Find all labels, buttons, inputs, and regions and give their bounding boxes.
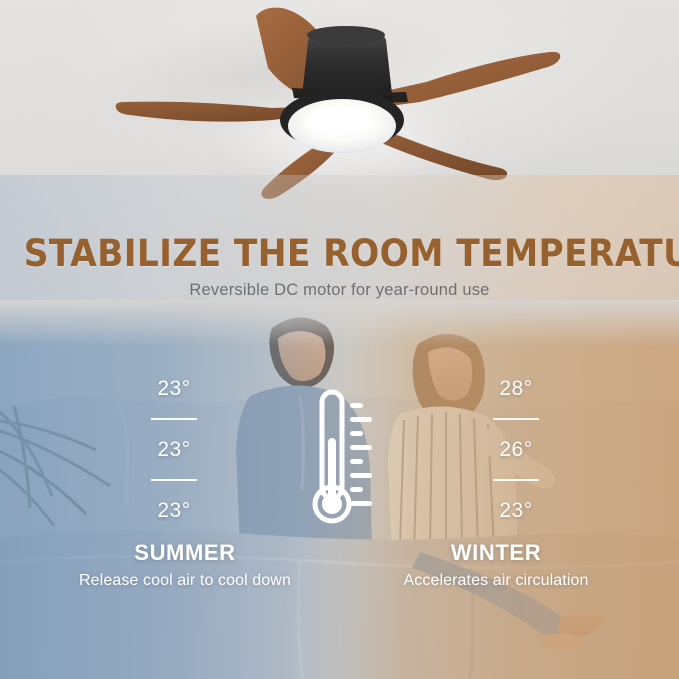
temperature-reading: 23° xyxy=(452,500,580,521)
season-description: Accelerates air circulation xyxy=(336,572,656,590)
temperature-divider xyxy=(493,479,539,481)
temperature-reading: 23° xyxy=(110,439,238,460)
temperature-reading: 26° xyxy=(452,439,580,460)
product-feature-poster: STABILIZE THE ROOM TEMPERATURE Reversibl… xyxy=(0,0,679,679)
ceiling-fan-product-image xyxy=(96,2,586,200)
thermometer-icon xyxy=(306,380,380,532)
temperature-reading: 23° xyxy=(110,500,238,521)
season-title: SUMMER xyxy=(25,540,345,566)
page-subtitle: Reversible DC motor for year-round use xyxy=(0,281,679,300)
season-block-winter: WINTER Accelerates air circulation xyxy=(336,540,656,590)
season-block-summer: SUMMER Release cool air to cool down xyxy=(25,540,345,590)
temperature-column-winter: 28° 26° 23° xyxy=(452,378,580,521)
temperature-column-summer: 23° 23° 23° xyxy=(110,378,238,521)
page-title: STABILIZE THE ROOM TEMPERATURE xyxy=(24,232,655,275)
temperature-divider xyxy=(151,418,197,420)
season-description: Release cool air to cool down xyxy=(25,572,345,590)
season-title: WINTER xyxy=(336,540,656,566)
temperature-divider xyxy=(493,418,539,420)
temperature-divider xyxy=(151,479,197,481)
temperature-reading: 28° xyxy=(452,378,580,399)
temperature-reading: 23° xyxy=(110,378,238,399)
